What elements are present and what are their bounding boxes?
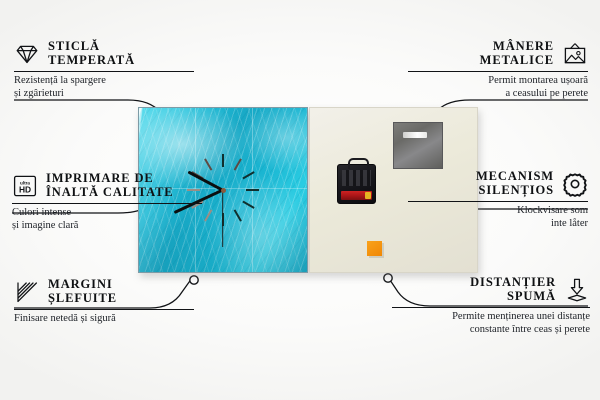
callout-subtitle: Permite menținerea unei distanțe — [392, 311, 590, 324]
callout-subtitle: a ceasului pe perete — [408, 88, 588, 101]
gear-icon — [562, 171, 588, 197]
picture-hanger-icon — [562, 41, 588, 67]
callout-subtitle: Permit montarea ușoară — [408, 75, 588, 88]
callout-title: MARGINI ȘLEFUITE — [48, 278, 117, 305]
callout-divider — [392, 307, 590, 308]
callout-title: MÂNERE METALICE — [480, 40, 554, 67]
callout-subtitle: constante între ceas și perete — [392, 324, 590, 337]
diamond-icon — [14, 41, 40, 67]
foam-spacer — [367, 241, 382, 256]
callout-title: IMPRIMARE DE ÎNALTĂ CALITATE — [46, 172, 174, 199]
callout-divider — [408, 201, 588, 202]
callout-tempered-glass: STICLĂ TEMPERATĂ Rezistență la spargere … — [14, 40, 194, 100]
callout-title: STICLĂ TEMPERATĂ — [48, 40, 135, 67]
callout-subtitle: și zgârieturi — [14, 88, 194, 101]
quartz-mechanism — [337, 164, 376, 204]
callout-subtitle: Klockvisare som — [408, 205, 588, 218]
callout-subtitle: și imagine clară — [12, 220, 202, 233]
mechanism-label — [342, 170, 371, 186]
callout-hd-print: ultra HD IMPRIMARE DE ÎNALTĂ CALITATE Cu… — [12, 172, 202, 232]
clock-center-cap — [221, 188, 226, 193]
callout-subtitle: inte låter — [408, 218, 588, 231]
hanger-slot — [403, 132, 427, 138]
polished-edge-icon — [14, 279, 40, 305]
callout-divider — [14, 309, 194, 310]
callout-metal-handles: MÂNERE METALICE Permit montarea ușoară a… — [408, 40, 588, 100]
down-arrow-pad-icon — [564, 277, 590, 303]
callout-subtitle: Culori intense — [12, 207, 202, 220]
mechanism-hook — [348, 158, 369, 169]
callout-divider — [408, 71, 588, 72]
callout-subtitle: Finisare netedă și sigură — [14, 313, 194, 326]
ultra-hd-icon: ultra HD — [12, 173, 38, 199]
svg-text:HD: HD — [19, 184, 31, 194]
callout-polished-edges: MARGINI ȘLEFUITE Finisare netedă și sigu… — [14, 278, 194, 326]
callout-silent-mechanism: MECANISM SILENȚIOS Klockvisare som inte … — [408, 170, 588, 230]
callout-title: DISTANȚIER SPUMĂ — [470, 276, 556, 303]
callout-divider — [14, 71, 194, 72]
callout-divider — [12, 203, 202, 204]
metal-hanger-plate — [393, 122, 443, 169]
callout-title: MECANISM SILENȚIOS — [476, 170, 554, 197]
infographic-canvas: STICLĂ TEMPERATĂ Rezistență la spargere … — [0, 0, 600, 400]
callout-subtitle: Rezistență la spargere — [14, 75, 194, 88]
callout-foam-spacer: DISTANȚIER SPUMĂ Permite menținerea unei… — [392, 276, 590, 336]
battery — [341, 191, 372, 200]
